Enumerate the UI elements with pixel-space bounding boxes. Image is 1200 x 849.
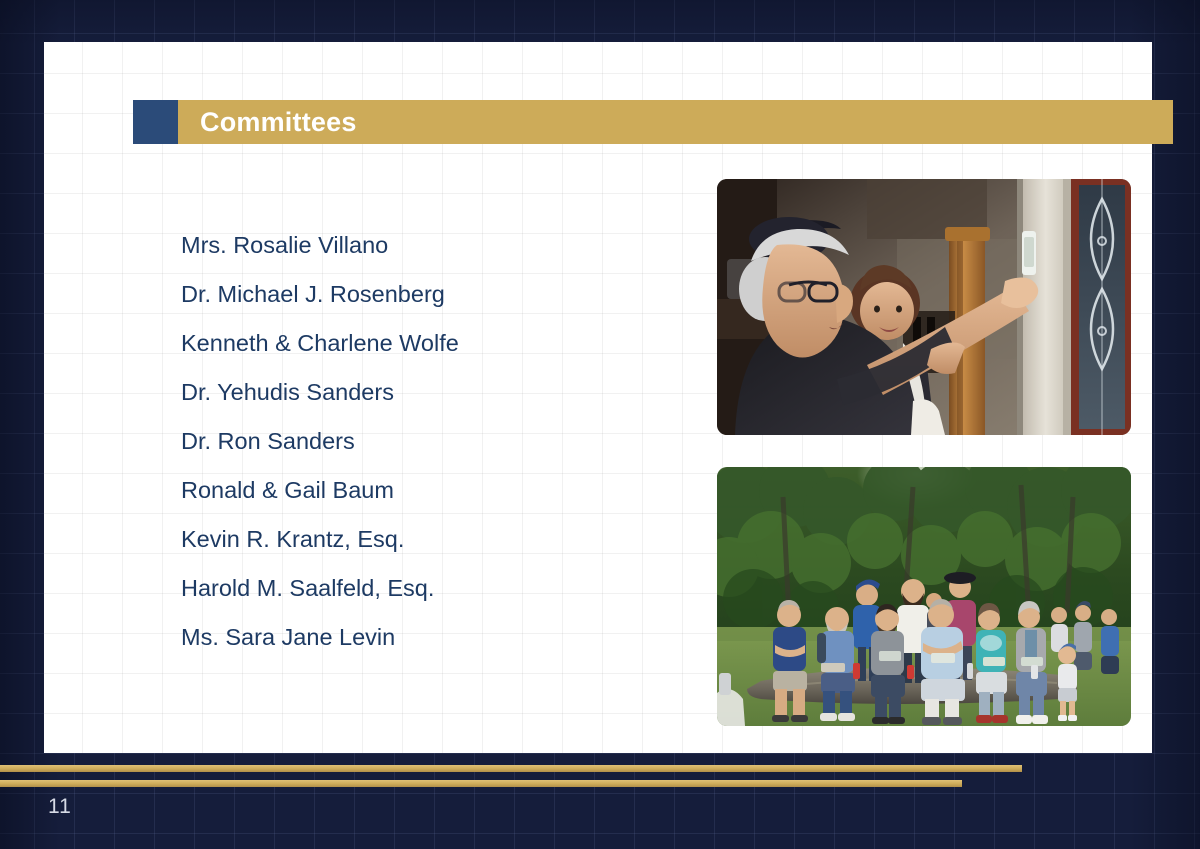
list-item: Dr. Ron Sanders	[181, 417, 671, 466]
list-item: Kevin R. Krantz, Esq.	[181, 515, 671, 564]
title-banner: Committees	[133, 100, 1173, 144]
list-item: Mrs. Rosalie Villano	[181, 221, 671, 270]
footer-rule-bottom	[0, 780, 962, 787]
list-item: Dr. Yehudis Sanders	[181, 368, 671, 417]
list-item: Ronald & Gail Baum	[181, 466, 671, 515]
committee-members-list: Mrs. Rosalie Villano Dr. Michael J. Rose…	[181, 221, 671, 662]
title-gold-bar: Committees	[178, 100, 1173, 144]
title-accent-square	[133, 100, 178, 144]
picnic-photo	[717, 467, 1131, 726]
footer-rule-top	[0, 765, 1022, 772]
page-number: 11	[48, 795, 72, 819]
list-item: Dr. Michael J. Rosenberg	[181, 270, 671, 319]
list-item: Ms. Sara Jane Levin	[181, 613, 671, 662]
slide: Committees Mrs. Rosalie Villano Dr. Mich…	[0, 0, 1200, 849]
list-item: Harold M. Saalfeld, Esq.	[181, 564, 671, 613]
list-item: Kenneth & Charlene Wolfe	[181, 319, 671, 368]
mezuzah-photo	[717, 179, 1131, 435]
page-title: Committees	[178, 109, 357, 136]
